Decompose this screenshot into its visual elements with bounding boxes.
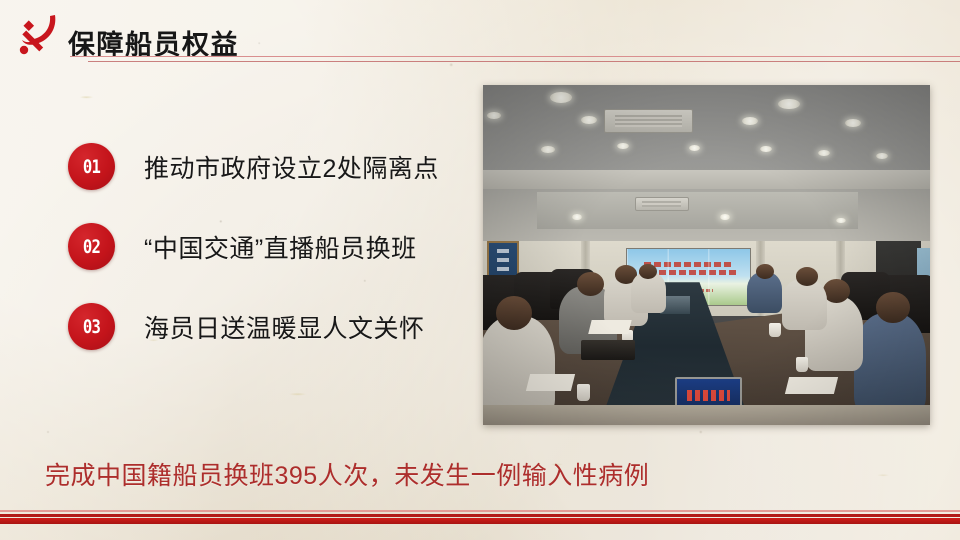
list-number-badge: 01 (68, 143, 115, 190)
meeting-room-photo (483, 85, 930, 425)
list-item: 01 推动市政府设立2处隔离点 (68, 143, 439, 190)
bullet-list: 01 推动市政府设立2处隔离点 02 “中国交通”直播船员换班 03 海员日送温… (68, 143, 439, 383)
list-number-badge: 02 (68, 223, 115, 270)
list-number-label: 03 (83, 316, 100, 338)
list-item-text: 推动市政府设立2处隔离点 (144, 149, 439, 185)
list-number-label: 02 (83, 236, 100, 258)
list-number-badge: 03 (68, 303, 115, 350)
list-number-label: 01 (83, 156, 100, 178)
header-rule-bottom (88, 61, 960, 62)
footer-rule-dark (0, 514, 960, 517)
list-item-text: “中国交通”直播船员换班 (144, 229, 417, 265)
header-rule-top (70, 56, 960, 57)
list-item: 03 海员日送温暖显人文关怀 (68, 303, 439, 350)
summary-caption: 完成中国籍船员换班395人次，未发生一例输入性病例 (45, 456, 649, 492)
list-item: 02 “中国交通”直播船员换班 (68, 223, 439, 270)
list-item-text: 海员日送温暖显人文关怀 (144, 309, 425, 345)
cpc-emblem-icon (14, 10, 66, 60)
photo-vignette (483, 85, 930, 425)
footer-rule-light (0, 510, 960, 512)
footer-rule-bold (0, 518, 960, 524)
slide-canvas: 保障船员权益 01 推动市政府设立2处隔离点 02 “中国交通”直播船员换班 0… (0, 0, 960, 540)
